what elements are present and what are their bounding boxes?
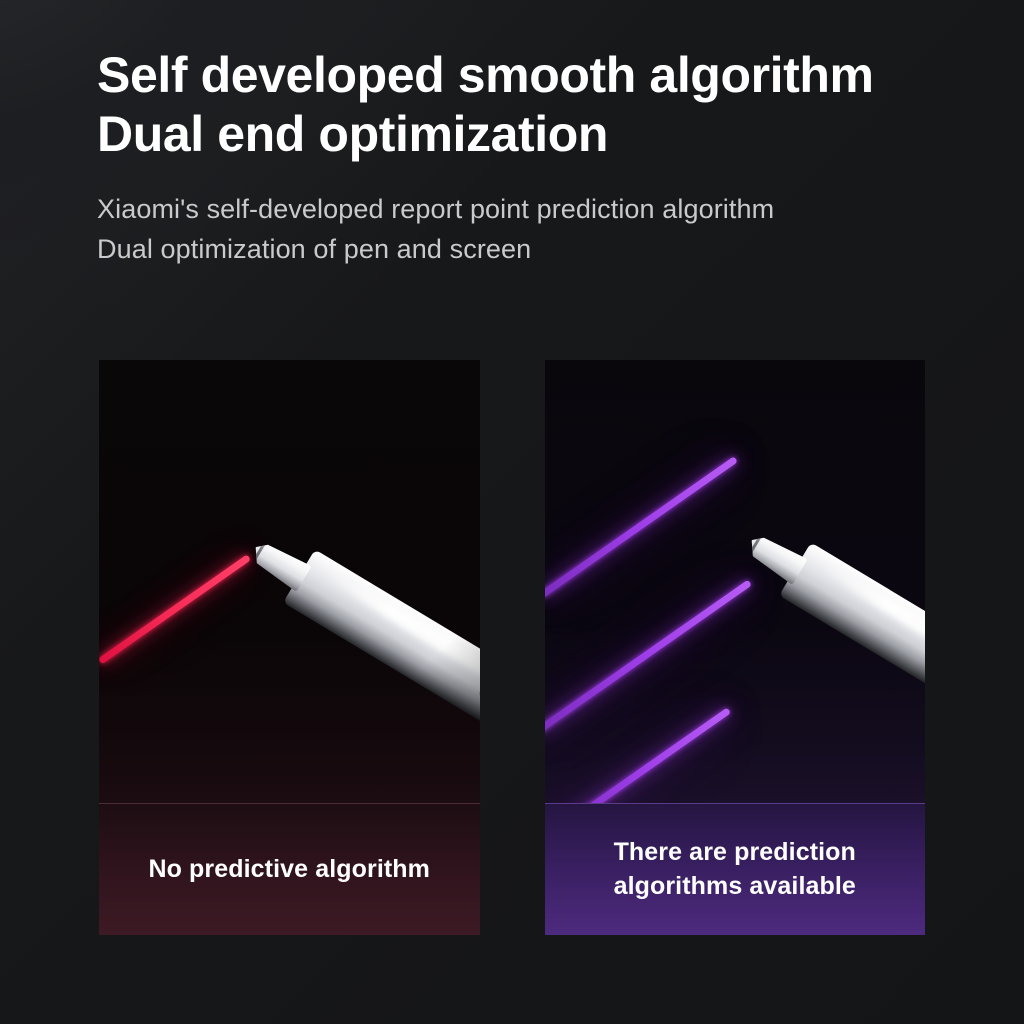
stroke-purple-upper — [545, 456, 738, 598]
stylus-tip — [247, 536, 312, 592]
comparison-panels: No predictive algorithm — [99, 360, 925, 935]
illustration-with-prediction — [545, 360, 926, 803]
stylus-seam — [250, 538, 269, 567]
caption-with-prediction: There are prediction algorithms availabl… — [545, 803, 926, 935]
stylus-seam — [745, 531, 764, 560]
panel-no-prediction: No predictive algorithm — [99, 360, 480, 935]
stylus-left — [283, 549, 479, 757]
panel-with-prediction: There are prediction algorithms availabl… — [545, 360, 926, 935]
page-title: Self developed smooth algorithm Dual end… — [97, 46, 997, 163]
stylus-button — [475, 684, 479, 720]
stylus-right — [779, 542, 925, 750]
stylus-tip — [742, 529, 807, 585]
caption-text: No predictive algorithm — [148, 853, 430, 886]
stroke-purple-lower — [550, 707, 730, 803]
caption-text: There are prediction algorithms availabl… — [614, 836, 856, 903]
illustration-no-prediction — [99, 360, 480, 803]
promo-page: Self developed smooth algorithm Dual end… — [0, 0, 1024, 1024]
page-subtitle: Xiaomi's self-developed report point pre… — [97, 190, 997, 270]
header: Self developed smooth algorithm Dual end… — [97, 46, 997, 270]
stroke-red-lagging — [99, 554, 251, 664]
caption-no-prediction: No predictive algorithm — [99, 803, 480, 935]
